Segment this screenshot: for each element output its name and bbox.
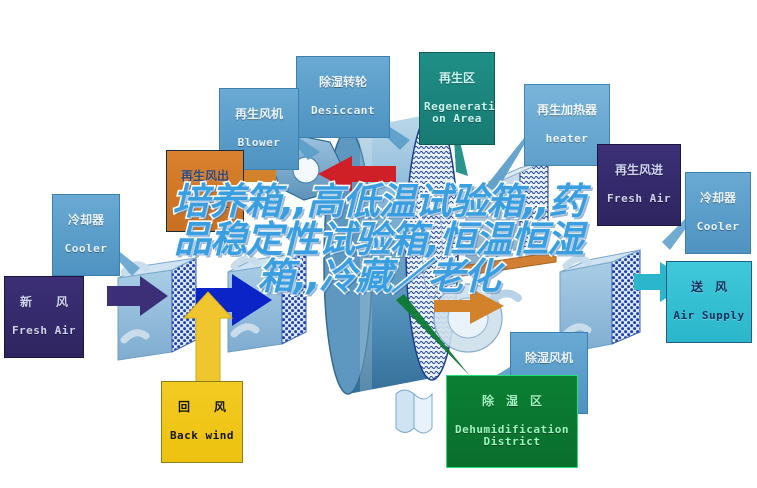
- label-regeneration-heater-cn: 再生加热器: [529, 104, 605, 117]
- label-desiccant-wheel[interactable]: 除湿转轮 Desiccant: [296, 56, 390, 138]
- label-regeneration-fresh-air-cn: 再生风进: [602, 164, 676, 177]
- label-regeneration-exhaust-cn: 再生风出: [171, 170, 239, 183]
- regeneration-heater: [462, 160, 556, 276]
- label-regeneration-exhaust[interactable]: 再生风出 Exhaust: [166, 150, 244, 232]
- label-regeneration-exhaust-en: Exhaust: [171, 199, 239, 211]
- label-regeneration-heater-en: heater: [529, 133, 605, 145]
- label-dehumidification-district-en: Dehumidification District: [451, 424, 573, 447]
- label-cooler-left[interactable]: 冷却器 Cooler: [52, 194, 120, 276]
- label-regeneration-area-en: Regenerati on Area: [424, 101, 490, 124]
- label-air-supply-en: Air Supply: [671, 310, 747, 322]
- label-cooler-left-cn: 冷却器: [57, 214, 115, 227]
- label-back-wind-en: Back wind: [166, 430, 238, 442]
- label-dehumidification-district[interactable]: 除 湿 区 Dehumidification District: [446, 375, 578, 468]
- label-fresh-air-inlet-en: Fresh Air: [9, 325, 79, 337]
- honeycomb-ribbon: [396, 390, 432, 433]
- label-cooler-right-en: Cooler: [690, 221, 746, 233]
- label-air-supply[interactable]: 送 风 Air Supply: [666, 261, 752, 343]
- label-desiccant-wheel-cn: 除湿转轮: [301, 76, 385, 89]
- label-air-supply-cn: 送 风: [671, 281, 747, 294]
- label-regeneration-fresh-air-en: Fresh Air: [602, 193, 676, 205]
- label-back-wind[interactable]: 回 风 Back wind: [161, 381, 243, 463]
- label-back-wind-cn: 回 风: [166, 401, 238, 414]
- label-regeneration-blower-en: Blower: [224, 137, 294, 149]
- desiccant-rotor: [324, 112, 458, 394]
- label-regeneration-fresh-air[interactable]: 再生风进 Fresh Air: [597, 144, 681, 226]
- label-cooler-right-cn: 冷却器: [690, 192, 746, 205]
- label-cooler-right[interactable]: 冷却器 Cooler: [685, 172, 751, 254]
- label-regeneration-area-cn: 再生区: [424, 72, 490, 85]
- label-fresh-air-inlet[interactable]: 新 风 Fresh Air: [4, 276, 84, 358]
- label-cooler-left-en: Cooler: [57, 243, 115, 255]
- label-dehumidification-blower-cn: 除湿风机: [515, 352, 583, 365]
- diagram-canvas: 除湿转轮 Desiccant 再生风机 Blower 再生区 Regenerat…: [0, 0, 757, 488]
- label-desiccant-wheel-en: Desiccant: [301, 105, 385, 117]
- label-fresh-air-inlet-cn: 新 风: [9, 296, 79, 309]
- label-regeneration-blower-cn: 再生风机: [224, 108, 294, 121]
- label-dehumidification-district-cn: 除 湿 区: [451, 395, 573, 408]
- label-regeneration-area[interactable]: 再生区 Regenerati on Area: [419, 52, 495, 145]
